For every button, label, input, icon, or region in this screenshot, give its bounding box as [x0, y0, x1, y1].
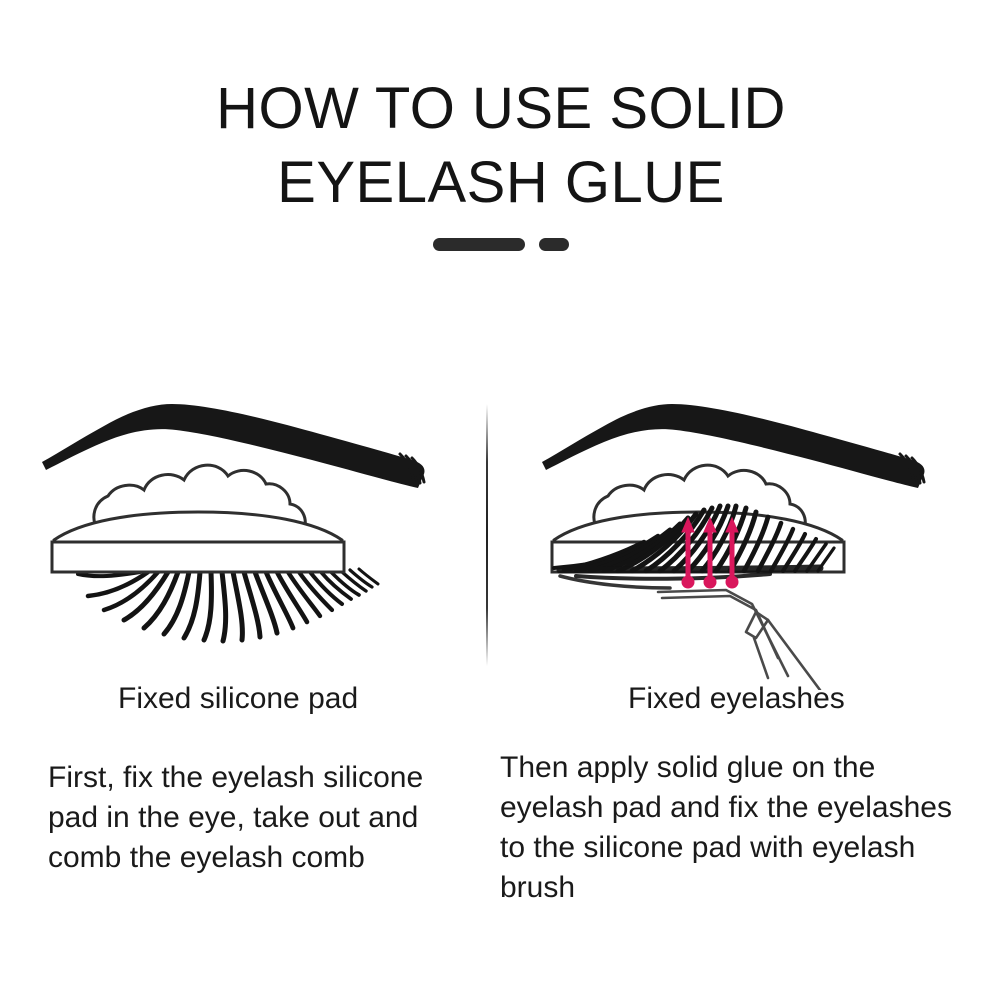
title-line-1: HOW TO USE SOLID [0, 72, 1002, 146]
glue-direction-arrows-icon [682, 518, 738, 588]
body-step-1: First, fix the eyelash silicone pad in t… [48, 758, 458, 878]
title-line-2: EYELASH GLUE [0, 146, 1002, 220]
caption-step-1: Fixed silicone pad [118, 682, 358, 716]
panel-step-2 [520, 390, 990, 690]
divider-long-dash [433, 238, 525, 251]
caption-step-2: Fixed eyelashes [628, 682, 845, 716]
eyelashes-down-icon [78, 569, 378, 641]
page-title: HOW TO USE SOLID EYELASH GLUE [0, 72, 1002, 220]
body-step-2: Then apply solid glue on the eyelash pad… [500, 748, 980, 908]
infographic-page: HOW TO USE SOLID EYELASH GLUE [0, 0, 1002, 1002]
divider-short-dash [539, 238, 569, 251]
silicone-pad-icon [52, 465, 344, 572]
illustration-panels [0, 390, 1002, 690]
title-divider [0, 238, 1002, 251]
eyelash-brush-tool-icon [658, 590, 820, 690]
panel-step-1 [20, 390, 490, 690]
